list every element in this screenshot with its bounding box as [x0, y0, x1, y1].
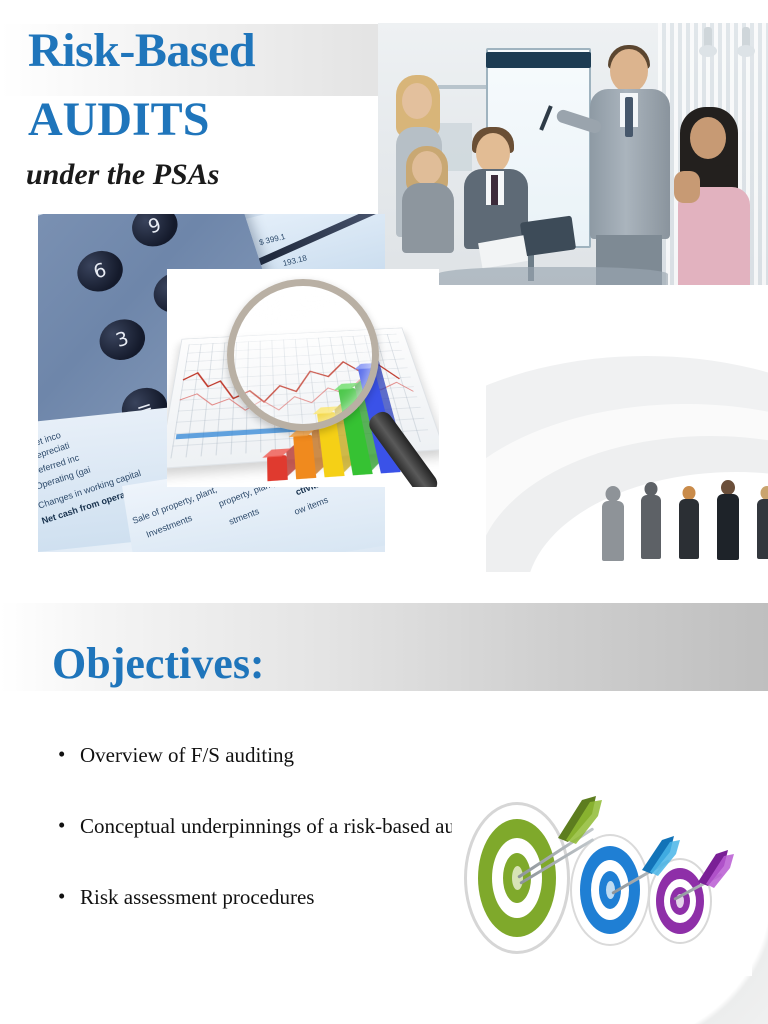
ceiling-lamp-icon [704, 27, 712, 53]
statement-line: ow items [293, 495, 330, 517]
ceiling-lamp-icon [742, 27, 750, 53]
list-item: Conceptual underpinnings of a risk-based… [58, 813, 478, 840]
silhouettes-photo [486, 286, 768, 572]
silhouette-person [598, 486, 628, 560]
page-title-line1: Risk-Based [28, 27, 368, 75]
arrow-fletching-purple [694, 848, 736, 888]
wall-shelf [438, 85, 486, 89]
person-listening-woman [674, 111, 758, 285]
slide-title: Risk-Based AUDITS under the PSAs [0, 0, 768, 602]
head [610, 49, 648, 93]
calculator-key[interactable]: 6 [72, 245, 128, 297]
sheet-number: $ 399.1 [258, 232, 286, 247]
arm [674, 171, 700, 203]
head [476, 133, 510, 173]
silhouette-person [676, 486, 702, 560]
calculator-key[interactable]: 9 [127, 214, 183, 252]
meeting-photo [378, 23, 768, 285]
head [402, 83, 432, 119]
objectives-heading: Objectives: [52, 642, 265, 686]
head [412, 151, 442, 185]
tablet-device [520, 216, 576, 257]
calculator-key[interactable]: 3 [94, 314, 150, 366]
chart-bar-2 [293, 435, 316, 480]
list-item: Risk assessment procedures [58, 884, 478, 911]
head [690, 117, 726, 159]
chart-bar-1 [267, 455, 288, 481]
person-seated-woman [402, 151, 458, 261]
sheet-number: 193.18 [282, 253, 308, 268]
page-subtitle: under the PSAs [26, 160, 426, 190]
targets-photo [452, 786, 752, 976]
meeting-table [438, 267, 668, 285]
silhouette-person [754, 486, 768, 560]
arrow-fletching-blue [638, 834, 682, 876]
tie [491, 175, 498, 205]
silhouette-person [714, 480, 742, 560]
document-page: Risk-Based AUDITS under the PSAs [0, 0, 768, 1024]
objectives-list: Overview of F/S auditing Conceptual unde… [58, 742, 478, 955]
statement-line: stments [228, 506, 261, 527]
magnifier-lens-icon [227, 279, 379, 431]
person-presenter [588, 49, 680, 285]
page-title-line2: AUDITS [28, 96, 368, 144]
magnifier-chart-photo [167, 269, 439, 487]
list-item: Overview of F/S auditing [58, 742, 478, 769]
arrow-fletching-green [552, 794, 606, 844]
person-seated-man [464, 133, 580, 273]
silhouette-person [638, 482, 664, 560]
tie [625, 97, 633, 137]
torso [402, 183, 454, 253]
